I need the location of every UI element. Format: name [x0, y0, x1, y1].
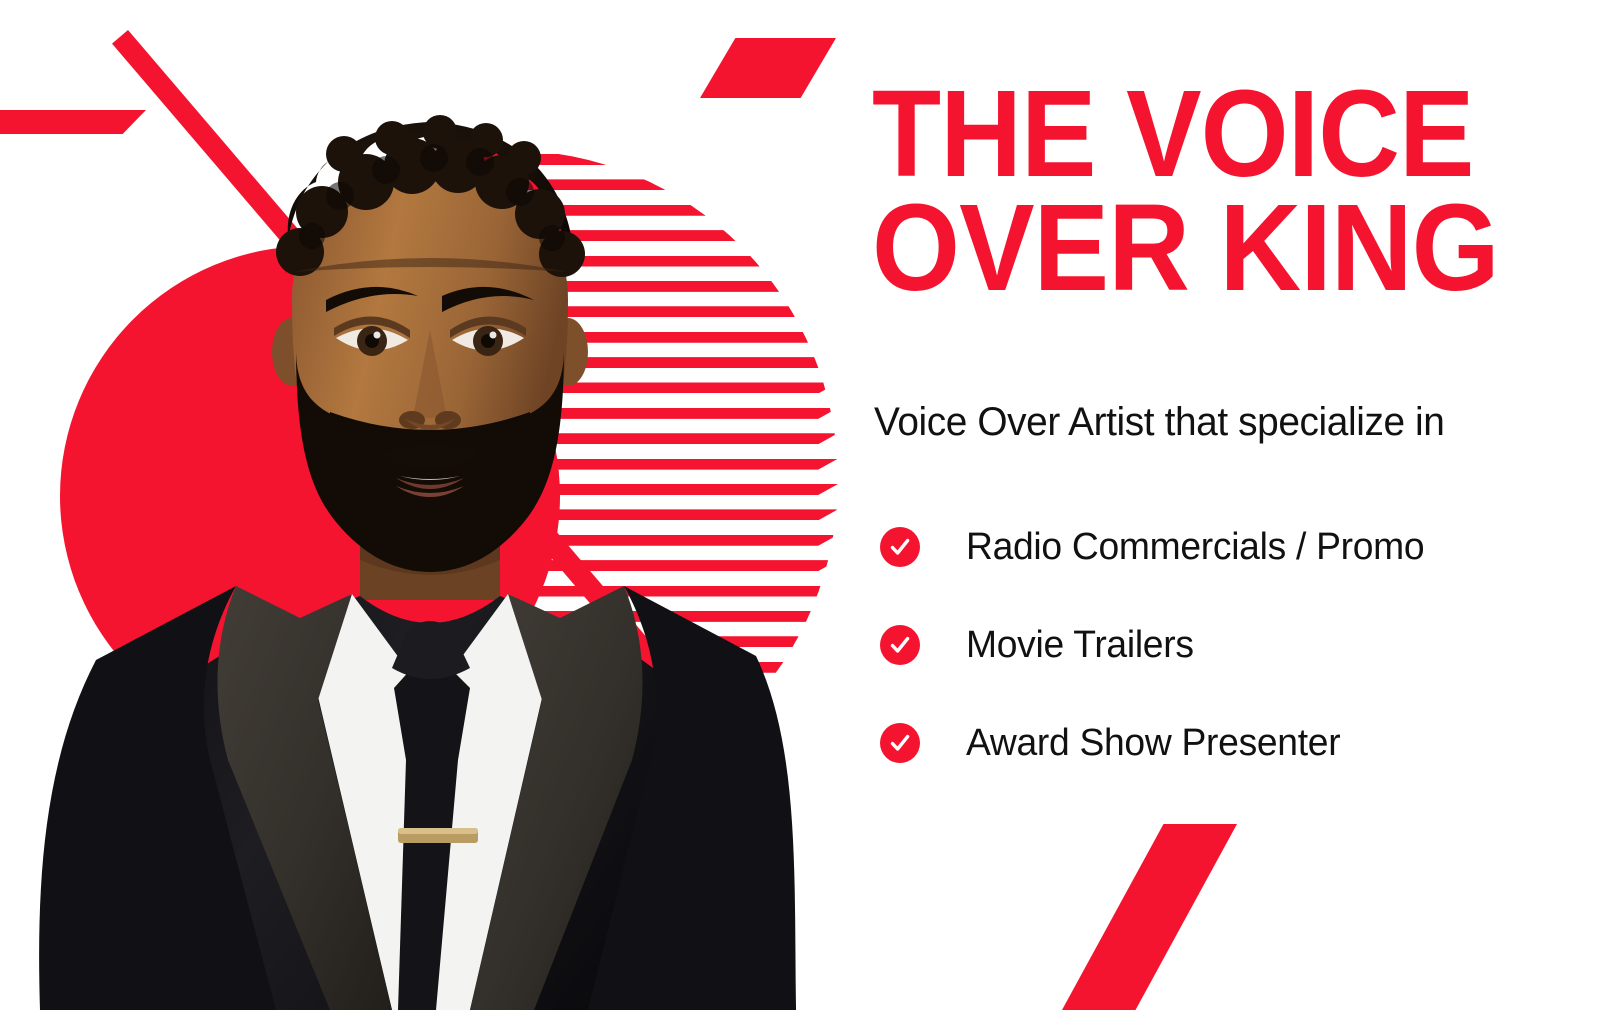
list-item-label: Award Show Presenter [966, 722, 1340, 765]
page-title: THE VOICE OVER KING [872, 78, 1553, 307]
check-circle-icon [880, 527, 920, 567]
check-circle-icon [880, 625, 920, 665]
portrait-photo [0, 0, 860, 1010]
list-item: Radio Commercials / Promo [880, 498, 1600, 596]
content-column: THE VOICE OVER KING Voice Over Artist th… [872, 0, 1600, 1010]
list-item-label: Movie Trailers [966, 624, 1194, 667]
check-circle-icon [880, 723, 920, 763]
headline-line-2: OVER KING [872, 192, 1553, 306]
list-item: Movie Trailers [880, 596, 1600, 694]
headline-line-1: THE VOICE [872, 78, 1553, 192]
subtitle: Voice Over Artist that specialize in [874, 400, 1444, 445]
list-item-label: Radio Commercials / Promo [966, 526, 1424, 569]
list-item: Award Show Presenter [880, 694, 1600, 792]
services-list: Radio Commercials / Promo Movie Trailers… [880, 498, 1600, 792]
voice-over-king-poster: THE VOICE OVER KING Voice Over Artist th… [0, 0, 1600, 1010]
